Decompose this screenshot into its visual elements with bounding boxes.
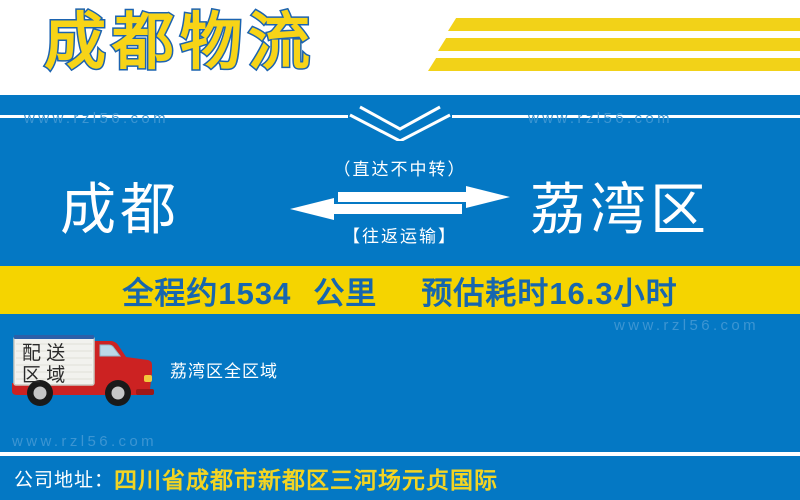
duration-value: 16.3 — [549, 276, 613, 311]
delivery-truck-icon: 配 送 区 域 — [8, 329, 158, 409]
distance-prefix: 全程约 — [122, 276, 218, 311]
watermark-top-right: www.rzl56.com — [528, 110, 673, 127]
banner-header: 成都物流 — [0, 0, 800, 95]
delivery-area-text: 荔湾区全区域 — [170, 357, 278, 382]
truck-label-line2: 区 域 — [22, 364, 65, 386]
distance-unit: 公里 — [313, 276, 377, 311]
decor-stripe-1 — [448, 18, 800, 31]
decor-stripe-2 — [438, 38, 800, 51]
logistics-banner: 成都物流 www.rzl56.com www.rzl56.com www.rzl… — [0, 0, 800, 500]
distance-band: 全程约1534公里预估耗时16.3小时 — [0, 266, 800, 314]
brand-logo-text: 成都物流 — [44, 4, 316, 82]
route-row: 成都 （直达不中转） 【往返运输】 荔湾区 — [0, 153, 800, 263]
banner-body: www.rzl56.com www.rzl56.com www.rzl56.co… — [0, 95, 800, 500]
duration-prefix: 预估耗时 — [421, 276, 549, 311]
distance-text: 全程约1534公里预估耗时16.3小时 — [122, 268, 677, 313]
watermark-bottom-left: www.rzl56.com — [12, 433, 157, 450]
footer-bar: 公司地址： 四川省成都市新都区三河场元贞国际 — [0, 456, 800, 500]
distance-value: 1534 — [218, 276, 291, 311]
company-address-label: 公司地址： — [14, 465, 114, 492]
duration-unit: 小时 — [614, 276, 678, 311]
watermark-top-left: www.rzl56.com — [24, 110, 169, 127]
decor-stripe-3 — [428, 58, 800, 71]
delivery-row: www.rzl56.com — [0, 327, 800, 417]
company-address-value: 四川省成都市新都区三河场元贞国际 — [114, 461, 498, 495]
truck-label-line1: 配 送 — [22, 342, 65, 364]
destination-city: 荔湾区 — [440, 153, 790, 257]
